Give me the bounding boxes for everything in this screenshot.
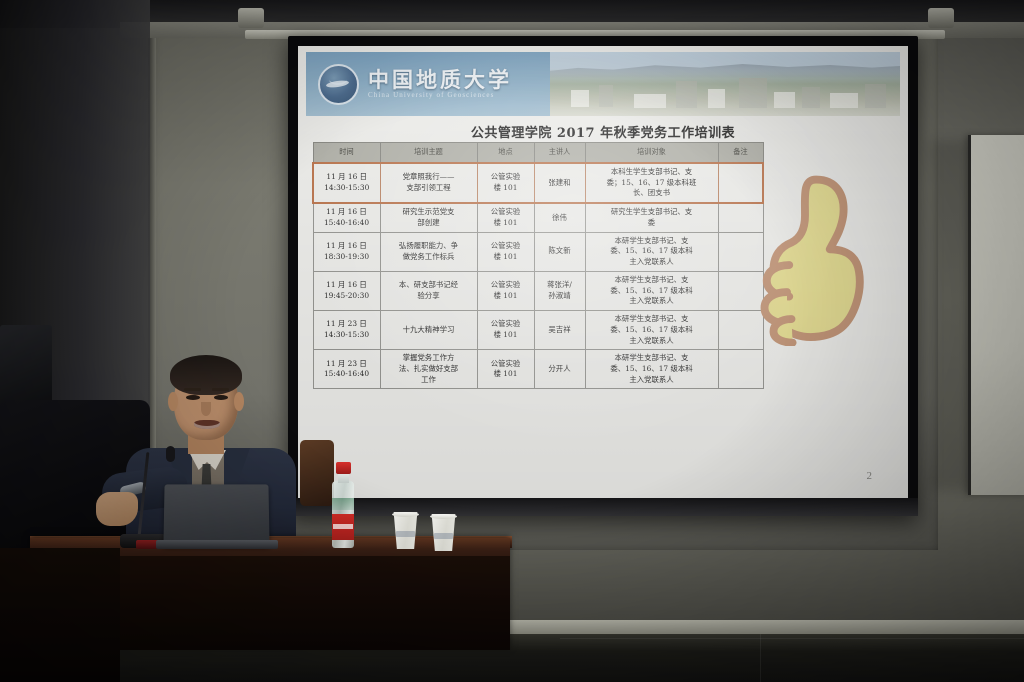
presenter-hand bbox=[96, 492, 138, 526]
projection-screen[interactable]: 中国地质大学 China University of Geosciences bbox=[288, 36, 918, 516]
slide-banner: 中国地质大学 China University of Geosciences bbox=[306, 52, 900, 116]
bottle-neck bbox=[338, 473, 349, 483]
col-header-audience: 培训对象 bbox=[585, 143, 718, 164]
institution-name-cn: 中国地质大学 bbox=[368, 69, 512, 91]
paper-cup-logo bbox=[396, 531, 415, 537]
eye-right bbox=[214, 395, 228, 400]
cell-speaker: 蒋张洋/孙淑靖 bbox=[534, 271, 585, 310]
eye-left bbox=[186, 395, 200, 400]
bottle-water-tint bbox=[332, 498, 354, 510]
cell-audience: 本科生学生支部书记、支委；15、16、17 级本科班长、团支书 bbox=[585, 163, 718, 203]
presenter-hair bbox=[170, 355, 242, 395]
cell-time: 11 月 23 日14:30-15:30 bbox=[313, 311, 380, 350]
paper-cup-rim bbox=[430, 514, 457, 519]
cell-audience: 本研学生支部书记、支委、15、16、17 级本科主入党联系人 bbox=[585, 311, 718, 350]
cell-topic: 弘扬履职能力、争做党务工作标兵 bbox=[380, 232, 477, 271]
projection-surface: 中国地质大学 China University of Geosciences bbox=[298, 46, 908, 498]
cell-topic: 十九大精神学习 bbox=[380, 311, 477, 350]
cell-audience: 本研学生支部书记、支委、15、16、17 级本科主入党联系人 bbox=[585, 271, 718, 310]
institution-name-en: China University of Geosciences bbox=[368, 91, 512, 99]
table-row: 11 月 23 日15:40-16:40掌握党务工作方法、扎实做好支部工作公管实… bbox=[313, 350, 763, 389]
col-header-remark: 备注 bbox=[718, 143, 763, 164]
cell-remark bbox=[718, 350, 763, 389]
col-header-topic: 培训主题 bbox=[380, 143, 477, 164]
eyebrow-left bbox=[184, 388, 201, 391]
slide-page-number: 2 bbox=[867, 470, 873, 482]
cell-speaker: 吴吉祥 bbox=[534, 311, 585, 350]
bottle-label-stripe bbox=[333, 524, 353, 529]
paper-cup-logo bbox=[434, 533, 453, 539]
cell-time: 11 月 16 日14:30-15:30 bbox=[313, 163, 380, 203]
university-seal-icon bbox=[318, 64, 359, 105]
desk-left-block bbox=[0, 548, 120, 682]
table-row: 11 月 16 日15:40-16:40研究生示范党支部创建公管实验楼 101徐… bbox=[313, 203, 763, 232]
ear-right bbox=[234, 392, 244, 411]
table-row: 11 月 16 日19:45-20:30本、研支部书记经验分享公管实验楼 101… bbox=[313, 271, 763, 310]
water-bottle bbox=[331, 462, 355, 548]
wall-baseboard bbox=[480, 620, 1024, 634]
cell-speaker: 分开人 bbox=[534, 350, 585, 389]
slide: 中国地质大学 China University of Geosciences bbox=[298, 46, 908, 498]
col-header-speaker: 主讲人 bbox=[534, 143, 585, 164]
university-logo-block: 中国地质大学 China University of Geosciences bbox=[306, 64, 550, 105]
cell-time: 11 月 16 日15:40-16:40 bbox=[313, 203, 380, 232]
whiteboard-shadow bbox=[930, 140, 972, 490]
table-head: 时间 培训主题 地点 主讲人 培训对象 备注 bbox=[313, 143, 763, 164]
side-monitor bbox=[0, 325, 52, 411]
cell-place: 公管实验楼 101 bbox=[477, 232, 534, 271]
mouth bbox=[194, 420, 220, 429]
cell-place: 公管实验楼 101 bbox=[477, 311, 534, 350]
cell-topic: 研究生示范党支部创建 bbox=[380, 203, 477, 232]
slide-title: 公共管理学院 2017 年秋季党务工作培训表 bbox=[298, 122, 908, 141]
eyebrow-right bbox=[212, 388, 229, 391]
table-header-row: 时间 培训主题 地点 主讲人 培训对象 备注 bbox=[313, 143, 763, 164]
laptop-keyboard[interactable] bbox=[156, 540, 278, 549]
lecture-room-scene: 中国地质大学 China University of Geosciences bbox=[0, 0, 1024, 682]
rail-end-left bbox=[238, 8, 264, 28]
cell-place: 公管实验楼 101 bbox=[477, 163, 534, 203]
cell-audience: 本研学生支部书记、支委、15、16、17 级本科主入党联系人 bbox=[585, 350, 718, 389]
cell-speaker: 陈文新 bbox=[534, 232, 585, 271]
rail-end-right bbox=[928, 8, 954, 28]
campus-photo bbox=[550, 52, 900, 116]
cell-topic: 掌握党务工作方法、扎实做好支部工作 bbox=[380, 350, 477, 389]
table-body: 11 月 16 日14:30-15:30党章照我行——支部引领工程公管实验楼 1… bbox=[313, 163, 763, 389]
screen-bottom-bar bbox=[288, 498, 918, 516]
table-row: 11 月 16 日14:30-15:30党章照我行——支部引领工程公管实验楼 1… bbox=[313, 163, 763, 203]
table-row: 11 月 16 日18:30-19:30弘扬履职能力、争做党务工作标兵公管实验楼… bbox=[313, 232, 763, 271]
cell-time: 11 月 16 日19:45-20:30 bbox=[313, 271, 380, 310]
paper-cup-rim bbox=[392, 512, 419, 517]
training-schedule-table: 时间 培训主题 地点 主讲人 培训对象 备注 11 月 16 日14:30-15… bbox=[312, 142, 764, 389]
thumbs-up-icon bbox=[746, 166, 882, 346]
nose bbox=[201, 402, 211, 416]
bottle-cap bbox=[336, 462, 351, 474]
table-row: 11 月 23 日14:30-15:30十九大精神学习公管实验楼 101吴吉祥本… bbox=[313, 311, 763, 350]
col-header-place: 地点 bbox=[477, 143, 534, 164]
cell-place: 公管实验楼 101 bbox=[477, 203, 534, 232]
cell-speaker: 徐伟 bbox=[534, 203, 585, 232]
cell-place: 公管实验楼 101 bbox=[477, 271, 534, 310]
cell-audience: 本研学生支部书记、支委、15、16、17 级本科主入党联系人 bbox=[585, 232, 718, 271]
ear-left bbox=[168, 392, 178, 411]
cell-audience: 研究生学生支部书记、支委 bbox=[585, 203, 718, 232]
microphone-head bbox=[166, 446, 175, 462]
cell-topic: 党章照我行——支部引领工程 bbox=[380, 163, 477, 203]
cell-speaker: 张建和 bbox=[534, 163, 585, 203]
col-header-time: 时间 bbox=[313, 143, 380, 164]
cell-time: 11 月 16 日18:30-19:30 bbox=[313, 232, 380, 271]
wall-whiteboard bbox=[968, 135, 1024, 495]
laptop-screen[interactable] bbox=[163, 484, 269, 546]
cell-place: 公管实验楼 101 bbox=[477, 350, 534, 389]
chair-back bbox=[300, 440, 334, 506]
cell-topic: 本、研支部书记经验分享 bbox=[380, 271, 477, 310]
